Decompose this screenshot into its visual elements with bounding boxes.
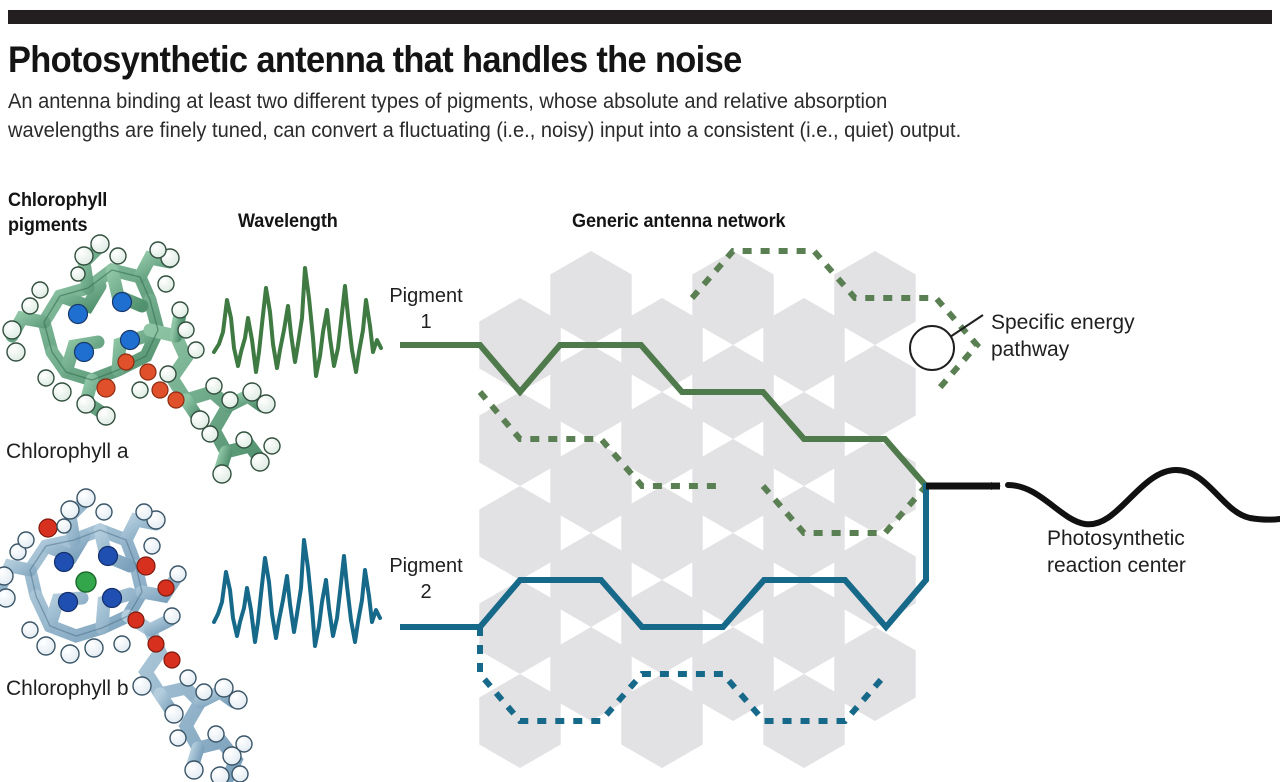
noisy-input-blue — [214, 540, 380, 646]
hexagon-cell — [550, 627, 631, 721]
hexagon-cell — [479, 580, 560, 674]
pigment-1-label-line2: 1 — [378, 309, 474, 335]
infographic-canvas: Photosynthetic antenna that handles the … — [0, 0, 1280, 782]
hexagon-cell — [692, 439, 773, 533]
pigment-2-label: Pigment 2 — [378, 553, 474, 605]
hexagon-cell — [834, 627, 915, 721]
pigment-2-label-line1: Pigment — [378, 553, 474, 579]
callout-circle — [910, 326, 954, 370]
chlorophyll-b-label: Chlorophyll b — [6, 676, 129, 702]
chlorophyll-b-magnesium-atom — [76, 572, 96, 592]
chlorophyll-a-label: Chlorophyll a — [6, 439, 129, 465]
noisy-input-green — [214, 268, 381, 376]
hexagon-cell — [479, 486, 560, 580]
hexagon-cell — [621, 486, 702, 580]
diagram-svg — [0, 0, 1280, 782]
pigment-2-waveform — [214, 540, 380, 646]
specific-pathway-line1: Specific energy — [991, 309, 1135, 336]
reaction-center-callout: Photosynthetic reaction center — [1047, 525, 1186, 579]
specific-energy-pathway-callout: Specific energy pathway — [991, 309, 1135, 363]
output-group — [926, 470, 1280, 524]
chlorophyll-b-molecule — [0, 489, 252, 782]
reaction-center-line1: Photosynthetic — [1047, 525, 1186, 552]
hexagon-cell — [834, 345, 915, 439]
hexagon-cell — [692, 251, 773, 345]
quiet-output-waveform — [1008, 470, 1280, 524]
reaction-center-line2: reaction center — [1047, 552, 1186, 579]
specific-pathway-line2: pathway — [991, 336, 1135, 363]
hexagon-cell — [479, 298, 560, 392]
hexagon-lattice — [479, 251, 915, 768]
hexagon-cell — [763, 580, 844, 674]
hexagon-cell — [763, 298, 844, 392]
hexagon-cell — [550, 251, 631, 345]
hexagon-cell — [550, 439, 631, 533]
hexagon-cell — [834, 439, 915, 533]
pigment-2-label-line2: 2 — [378, 579, 474, 605]
pigment-1-waveform — [214, 268, 381, 376]
pigment-1-label-line1: Pigment — [378, 283, 474, 309]
pigment-1-label: Pigment 1 — [378, 283, 474, 335]
hexagon-cell — [550, 345, 631, 439]
